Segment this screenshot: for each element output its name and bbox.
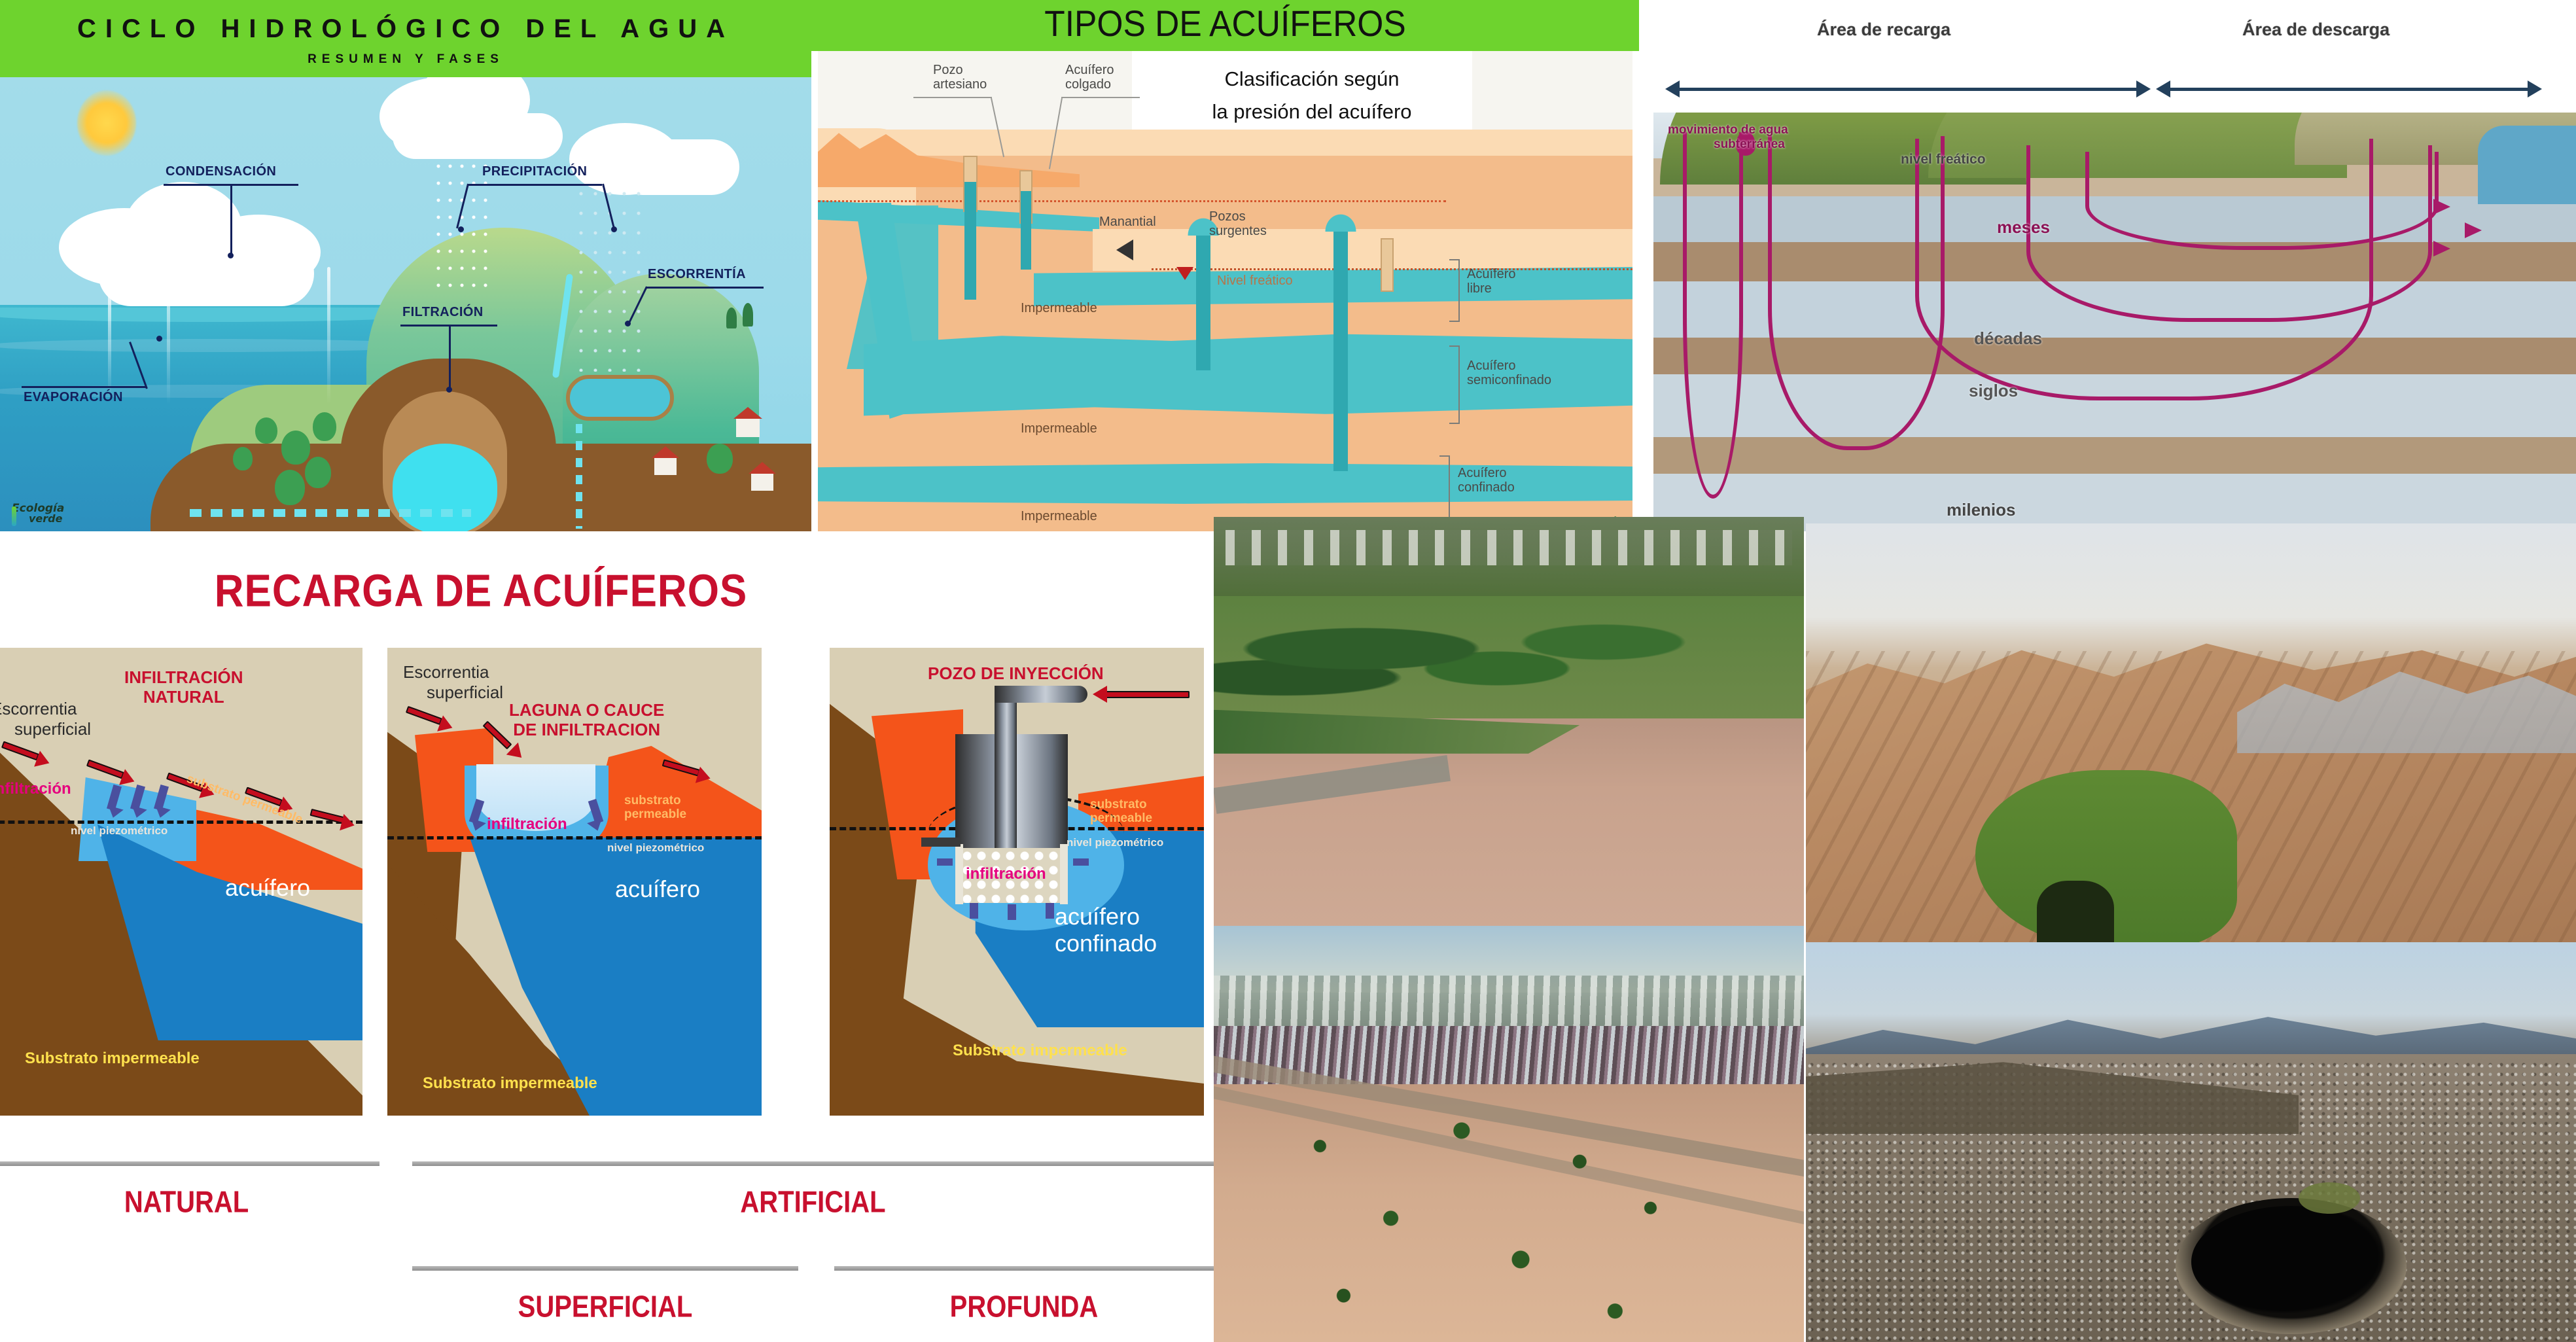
injection-inflow-arrow [1104, 691, 1190, 698]
artesian-well-water [964, 182, 976, 300]
tree-icon [313, 412, 336, 441]
label-rule [1061, 97, 1140, 98]
label-rule [646, 287, 764, 289]
label-acuifero-colgado: Acuíferocolgado [1065, 63, 1114, 92]
label-pozos-surgentes: Pozossurgentes [1209, 209, 1267, 239]
lateral-flow-arrow-right [1073, 858, 1089, 866]
flowing-well-2-spray [1314, 202, 1367, 232]
panel3-substrato-permeable: substratopermeable [1090, 798, 1152, 826]
label-rule [913, 97, 992, 98]
aquifer-types-panel: TIPOS DE ACUÍFEROS Clasificación según l… [811, 0, 1639, 531]
tree-icon [255, 417, 277, 444]
downward-flow-arrow [1046, 903, 1054, 919]
note-line-2: la presión del acuífero [1158, 96, 1466, 128]
rule-natural [0, 1161, 379, 1166]
photo-dry-well-desert [1806, 942, 2576, 1342]
groundwater-flow-block: movimiento de aguasubterránea nivel freá… [1653, 113, 2576, 531]
panel1-substrato-impermeable: Substrato impermeable [25, 1050, 200, 1068]
label-filtracion: FILTRACIÓN [402, 305, 484, 320]
panel2-escorrentia: Escorrentiasuperficial [403, 662, 503, 703]
runoff-arrow [406, 706, 442, 725]
recarga-arrow-line [1680, 88, 2138, 91]
label-rule [22, 386, 146, 388]
recarga-panel-pozo-inyeccion: POZO DE INYECCIÓN substratopermeable niv… [830, 648, 1204, 1116]
panel3-substrato-impermeable: Substrato impermeable [953, 1042, 1127, 1060]
tree-icon [233, 447, 253, 470]
descarga-arrow-head-left [2156, 80, 2170, 97]
aquifer-types-title: TIPOS DE ACUÍFEROS [845, 2, 1606, 44]
panel3-heading: POZO DE INYECCIÓN [928, 663, 1104, 683]
label-escorrentia: ESCORRENTÍA [648, 267, 746, 282]
label-evaporacion: EVAPORACIÓN [24, 390, 123, 405]
photo-arid-eroded-hills [1806, 523, 2576, 949]
label-stem [230, 184, 232, 256]
perched-well-water [1021, 191, 1031, 270]
downward-flow-arrow [1008, 904, 1016, 920]
downward-flow-arrow [970, 903, 978, 919]
recarga-arrow-head-left [1665, 80, 1680, 97]
panel2-substrato-permeable: substratopermeable [624, 794, 686, 822]
panel3-acuifero-confinado: acuíferoconfinado [1055, 903, 1157, 957]
recarga-acuiferos-panel: RECARGA DE ACUÍFEROS INFILTRACIÓNNATURAL… [0, 531, 1214, 1342]
panel2-nivel-piezometrico: nivel piezométrico [607, 841, 704, 855]
label-siglos: siglos [1969, 381, 2018, 401]
brace-semiconfinado [1449, 345, 1460, 424]
house-icon [654, 457, 677, 475]
river-discharge [2478, 126, 2576, 204]
rule-artificial [412, 1161, 1214, 1166]
piezometric-level-line [387, 836, 762, 839]
label-milenios: milenios [1947, 500, 2015, 520]
panel1-escorrentia: Escorrentiasuperficial [0, 699, 91, 739]
groundwater-pool [393, 444, 497, 531]
aquifer-classification-note: Clasificación según la presión del acuíf… [1158, 63, 1466, 128]
sun-icon [77, 90, 136, 156]
water-cycle-panel: CICLO HIDROLÓGICO DEL AGUA RESUMEN Y FAS… [0, 0, 811, 531]
label-dot [156, 336, 162, 342]
vapor-stream [327, 267, 330, 404]
descarga-arrow-line [2170, 88, 2529, 91]
category-natural: NATURAL [0, 1186, 379, 1220]
rule-profunda [834, 1266, 1214, 1271]
water-table-marker-icon [1176, 267, 1193, 280]
rule-superficial [412, 1266, 798, 1271]
house-icon [751, 472, 773, 491]
panel2-heading: LAGUNA O CAUCEDE INFILTRACION [509, 700, 664, 739]
cloud-icon [98, 241, 314, 306]
label-dot [228, 253, 234, 258]
water-cycle-illustration: CONDENSACIÓN PRECIPITACIÓN ESCORRENTÍA F… [0, 77, 811, 531]
label-decadas: décadas [1974, 328, 2042, 349]
flow-arrowhead [2433, 199, 2450, 215]
label-rule [467, 184, 602, 186]
category-artificial: ARTIFICIAL [412, 1186, 1214, 1220]
lateral-flow-arrow-left [937, 858, 953, 866]
label-movimiento-agua-subterranea: movimiento de aguasubterránea [1668, 123, 1788, 152]
tree-icon [275, 470, 305, 505]
panel1-acuifero: acuífero [225, 874, 310, 901]
label-acuifero-semiconfinado: Acuíferosemiconfinado [1467, 359, 1551, 388]
flowing-well-1-pipe [1196, 226, 1210, 370]
label-meses: meses [1997, 217, 2050, 238]
brace-libre [1449, 259, 1460, 322]
aquifer-types-diagram: Clasificación según la presión del acuíf… [818, 51, 1632, 531]
watermark-bar-icon [12, 506, 16, 526]
runoff-arrow [1, 741, 39, 760]
panel1-heading: INFILTRACIÓNNATURAL [124, 667, 243, 707]
house-icon [736, 417, 760, 437]
label-area-recarga: Área de recarga [1817, 20, 1950, 40]
note-line-1: Clasificación según [1158, 63, 1466, 96]
label-acuifero-libre: Acuíferolibre [1467, 267, 1515, 296]
flowing-well-2-pipe [1333, 222, 1348, 471]
flow-path-shallow [1683, 132, 1743, 499]
recarga-title: RECARGA DE ACUÍFEROS [0, 565, 962, 618]
panel1-infiltracion: infiltración [0, 780, 71, 798]
shallow-well-casing [1381, 238, 1394, 292]
well-base-left [921, 838, 961, 847]
aquifer-types-header: TIPOS DE ACUÍFEROS [811, 0, 1639, 51]
label-stem [449, 325, 451, 390]
recarga-arrow-head-right [2136, 80, 2151, 97]
panel1-nivel-piezometrico: nivel piezométrico [71, 824, 168, 838]
well-screen-left [955, 844, 963, 904]
label-dot [625, 321, 631, 327]
panel2-substrato-impermeable: Substrato impermeable [423, 1074, 597, 1093]
photo-flooded-town-aerial [1214, 926, 1804, 1342]
panel3-infiltracion: infiltración [966, 865, 1046, 883]
label-manantial: Manantial [1099, 215, 1156, 229]
terrace-layer [1093, 229, 1632, 271]
tree-icon [707, 444, 733, 474]
label-precipitacion: PRECIPITACIÓN [482, 164, 587, 179]
tree-icon [305, 457, 331, 488]
category-profunda: PROFUNDA [834, 1290, 1214, 1324]
tree-icon [726, 308, 737, 328]
label-impermeable-3: Impermeable [1021, 509, 1097, 523]
panel2-acuifero: acuífero [615, 875, 700, 902]
flow-arrowhead [2433, 241, 2450, 256]
descarga-arrow-head-right [2528, 80, 2542, 97]
label-impermeable-1: Impermeable [1021, 301, 1097, 315]
runoff-arrow [86, 759, 124, 779]
infiltration-dots [190, 509, 471, 517]
recarga-panel-natural: INFILTRACIÓNNATURAL Escorrentiasuperfici… [0, 648, 362, 1116]
cloud-icon [615, 139, 739, 195]
water-cycle-subtitle: RESUMEN Y FASES [0, 52, 811, 67]
recarga-panel-laguna: Escorrentiasuperficial LAGUNA O CAUCEDE … [387, 648, 762, 1116]
label-condensacion: CONDENSACIÓN [166, 164, 276, 179]
label-acuifero-confinado: Acuíferoconfinado [1458, 466, 1515, 495]
panel3-nivel-piezometrico: nivel piezométrico [1067, 836, 1163, 849]
category-superficial: SUPERFICIAL [412, 1290, 798, 1324]
well-screen-right [1060, 844, 1068, 904]
photo-flooded-river-aerial [1214, 517, 1804, 955]
label-nivel-freatico: nivel freático [1901, 152, 1986, 168]
brace-confinado [1439, 455, 1450, 520]
tree-icon [743, 303, 753, 327]
label-nivel-freatico: Nivel freático [1217, 274, 1293, 288]
injection-well-elbow [995, 686, 1087, 703]
water-cycle-title: CICLO HIDROLÓGICO DEL AGUA [0, 14, 811, 44]
panel2-infiltracion: infiltración [487, 815, 567, 834]
wave-shape [0, 308, 432, 322]
ecologia-verde-watermark: Ecología verde [12, 504, 64, 523]
label-impermeable-2: Impermeable [1021, 421, 1097, 436]
label-dot [446, 387, 452, 393]
infiltration-dots [576, 424, 582, 529]
tree-icon [281, 431, 310, 465]
flow-arrowhead [2465, 222, 2482, 238]
piezometric-level-line [0, 821, 362, 824]
vapor-stream [167, 260, 170, 404]
lake-shape [566, 375, 674, 421]
vapor-stream [108, 274, 111, 398]
watermark-line2: verde [29, 514, 64, 523]
label-dot [458, 226, 464, 232]
water-cycle-header: CICLO HIDROLÓGICO DEL AGUA RESUMEN Y FAS… [0, 0, 811, 77]
flow-path-meses [2085, 152, 2439, 250]
label-dot [611, 226, 617, 232]
label-area-descarga: Área de descarga [2242, 20, 2390, 40]
injection-inflow-arrow-head [1093, 686, 1107, 703]
label-pozo-artesiano: Pozoartesiano [933, 63, 987, 92]
spring-arrow-icon [1116, 239, 1133, 260]
strata-8 [1653, 437, 2576, 474]
recharge-discharge-panel: Área de recarga Área de descarga [1639, 0, 2576, 531]
